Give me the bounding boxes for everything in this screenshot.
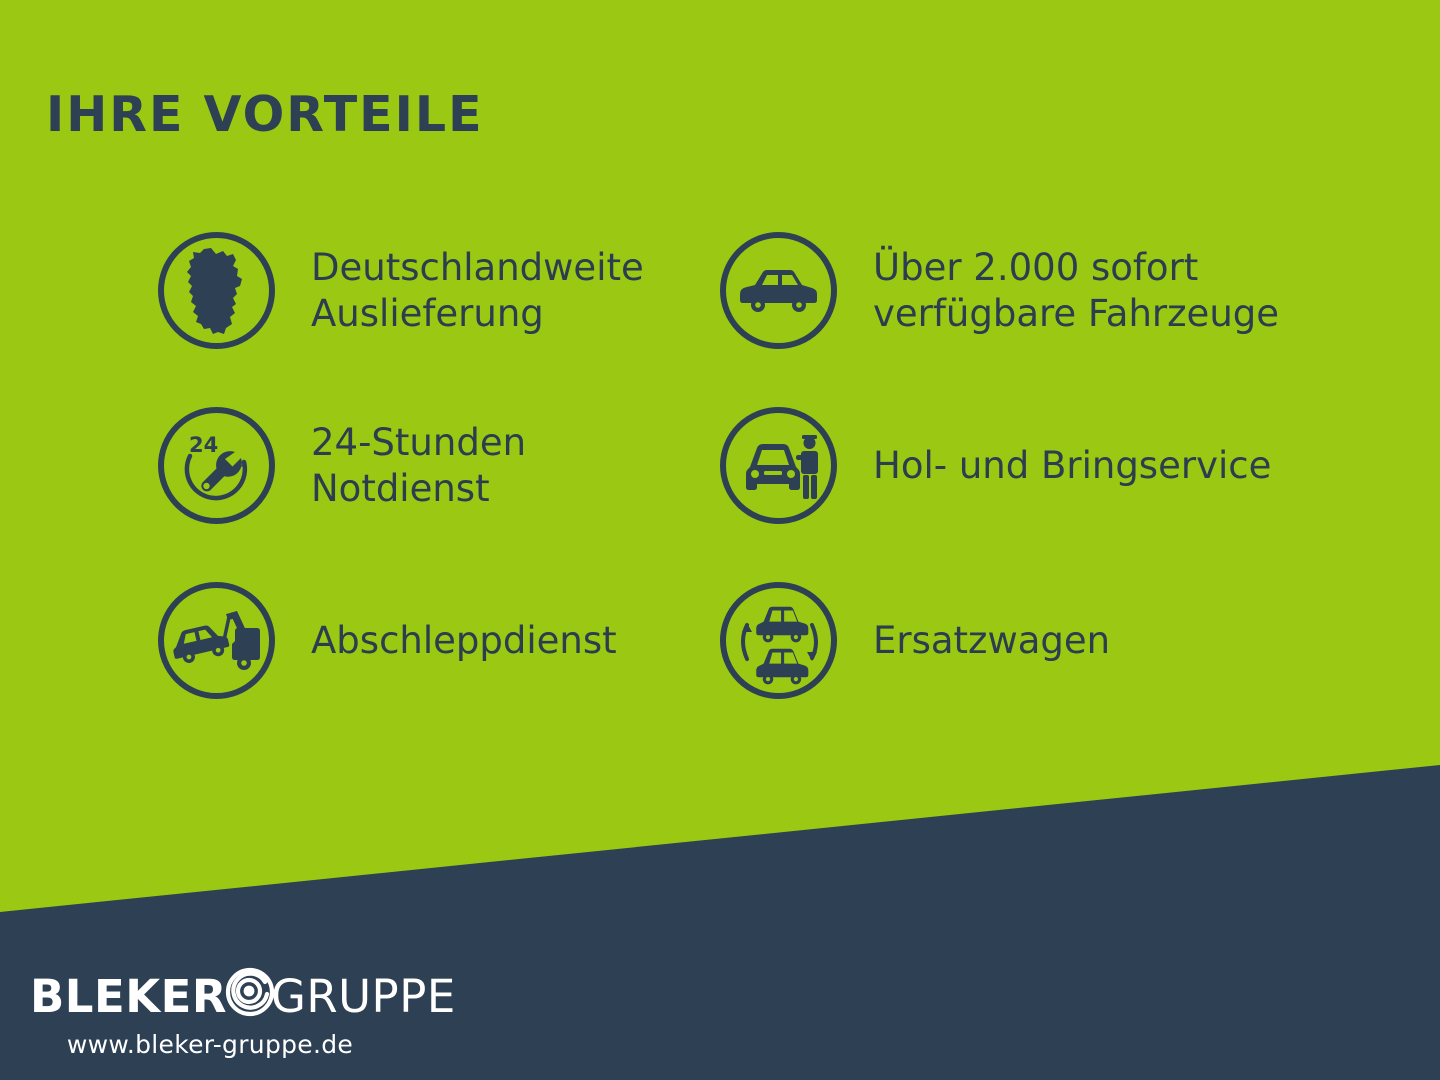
24h-wrench-icon: 24 bbox=[158, 407, 275, 524]
benefit-label: 24-Stunden Notdienst bbox=[311, 420, 526, 512]
benefit-item-24-stunden-notdienst[interactable]: 24 24-Stunden Notdienst bbox=[158, 407, 526, 524]
benefit-label: Über 2.000 sofort verfügbare Fahrzeuge bbox=[873, 245, 1279, 337]
logo-name-gruppe: GRUPPE bbox=[271, 974, 456, 1019]
germany-map-icon bbox=[158, 232, 275, 349]
benefit-label: Hol- und Bringservice bbox=[873, 443, 1271, 489]
website-url[interactable]: www.bleker-gruppe.de bbox=[30, 1030, 390, 1059]
benefits-list: Deutschlandweite Auslieferung Über 2.000… bbox=[0, 0, 1440, 1080]
benefit-item-ersatzwagen[interactable]: Ersatzwagen bbox=[720, 582, 1110, 699]
benefit-item-sofort-verfuegbare-fahrzeuge[interactable]: Über 2.000 sofort verfügbare Fahrzeuge bbox=[720, 232, 1279, 349]
benefit-label: Deutschlandweite Auslieferung bbox=[311, 245, 644, 337]
logo-name-bleker: BLEKER bbox=[30, 974, 227, 1019]
benefit-label: Ersatzwagen bbox=[873, 618, 1110, 664]
benefit-label: Abschleppdienst bbox=[311, 618, 617, 664]
benefit-item-deutschlandweite-auslieferung[interactable]: Deutschlandweite Auslieferung bbox=[158, 232, 644, 349]
spiral-circles-icon bbox=[219, 956, 281, 1018]
logo-wordmark-row: BLEKER GRUPPE bbox=[30, 968, 450, 1024]
benefit-item-hol-und-bringservice[interactable]: Hol- und Bringservice bbox=[720, 407, 1271, 524]
car-with-driver-icon bbox=[720, 407, 837, 524]
two-cars-exchange-icon bbox=[720, 582, 837, 699]
24h-badge-text: 24 bbox=[189, 433, 218, 457]
car-icon bbox=[720, 232, 837, 349]
benefit-item-abschleppdienst[interactable]: Abschleppdienst bbox=[158, 582, 617, 699]
slide-canvas: IHRE VORTEILE Deutschlandweite Ausliefer… bbox=[0, 0, 1440, 1080]
brand-logo[interactable]: BLEKER GRUPPE www.bleker-gruppe.de bbox=[30, 968, 450, 1059]
tow-truck-icon bbox=[158, 582, 275, 699]
